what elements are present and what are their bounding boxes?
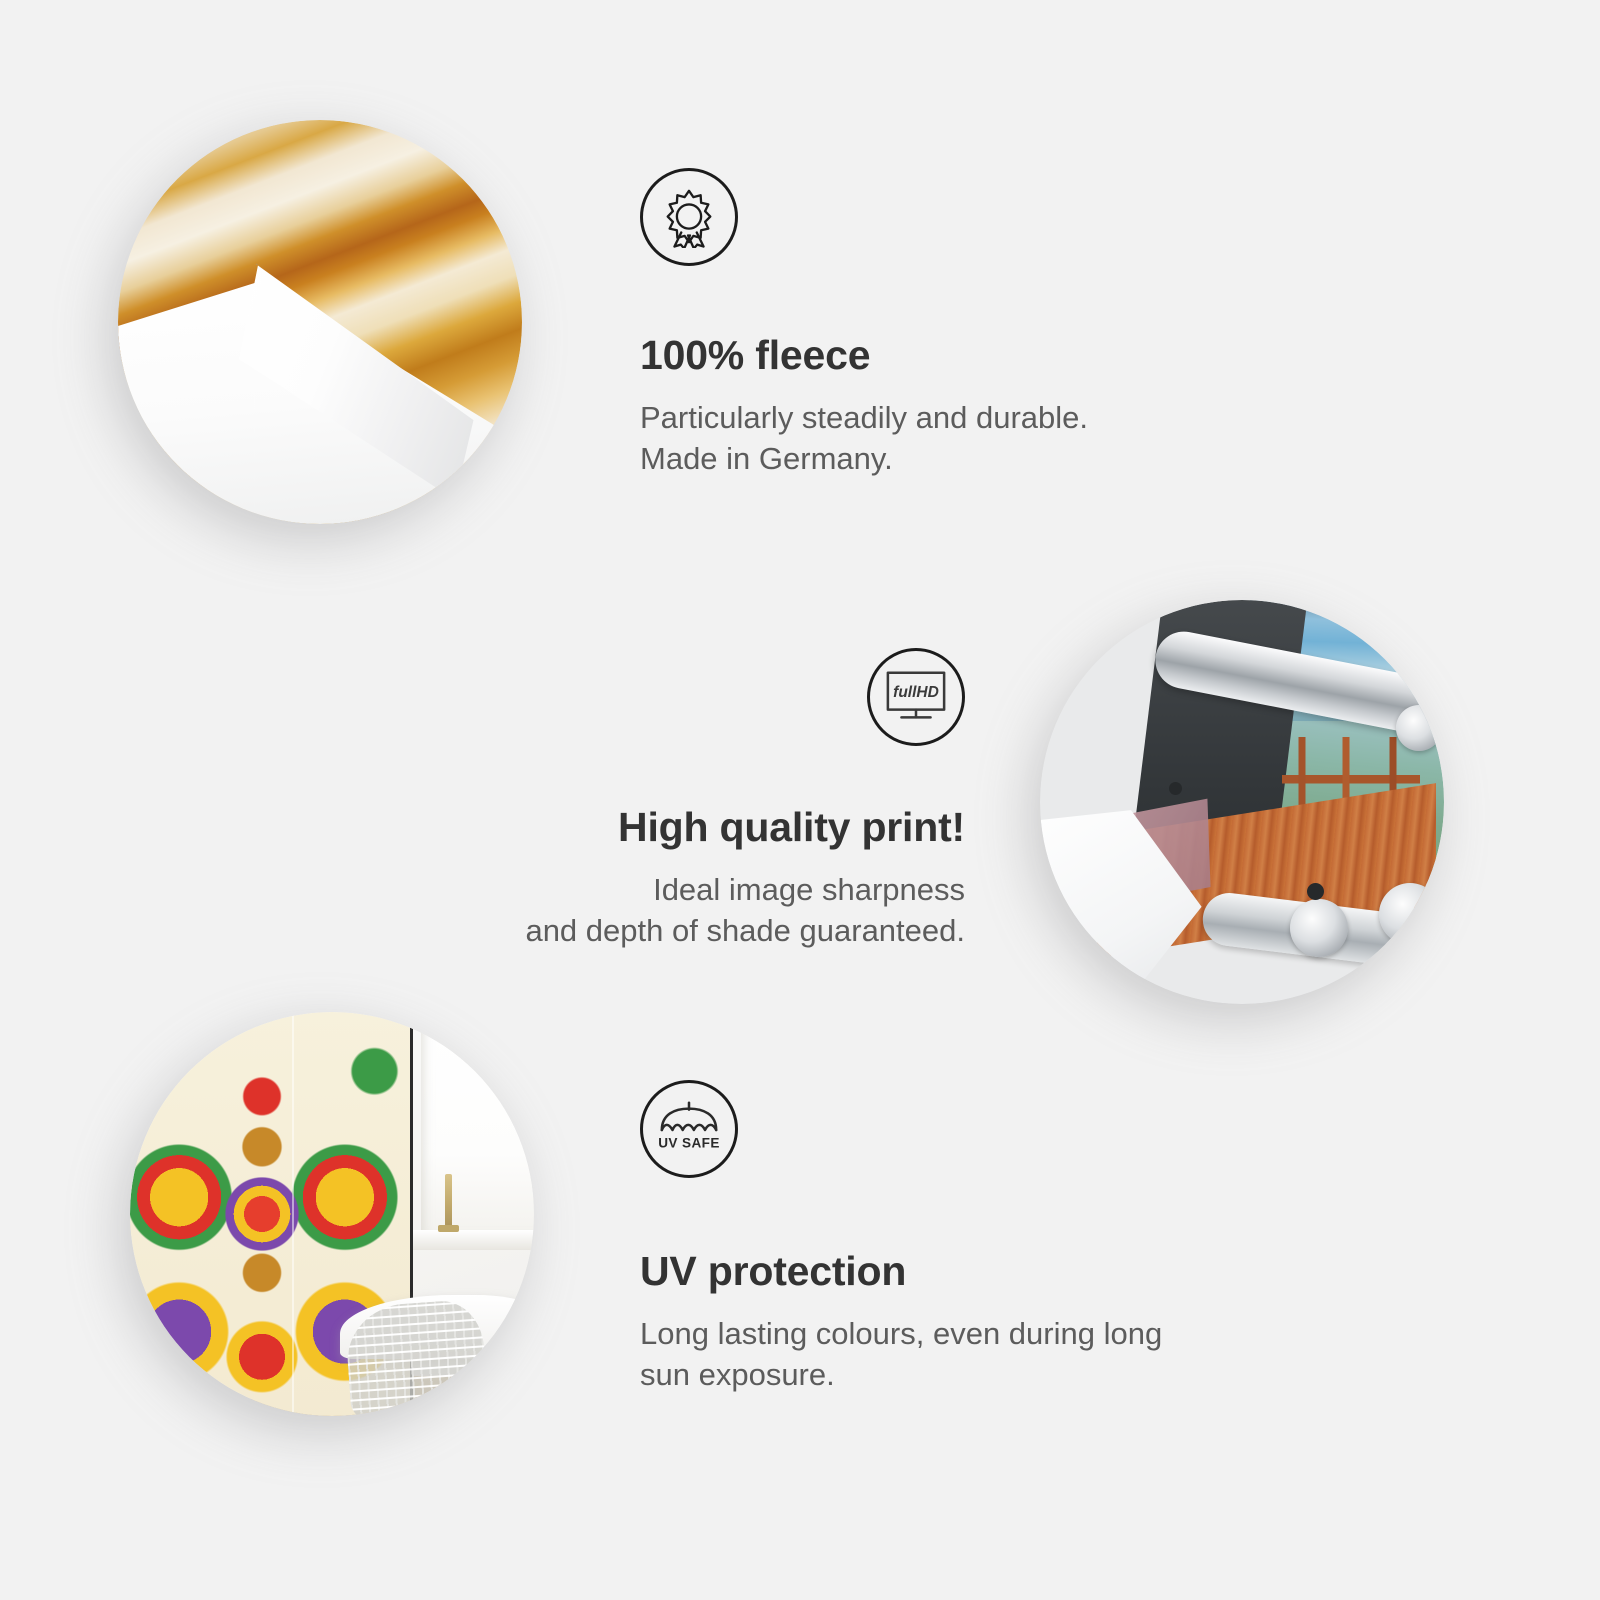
candle-holder [445,1174,452,1232]
feature-title: UV protection [640,1248,1162,1295]
printer-knob [1169,782,1182,795]
window-sill [413,1230,534,1250]
uv-safe-umbrella-icon: UV SAFE [640,1080,738,1178]
award-ribbon-icon [640,168,738,266]
fullhd-icon-label: fullHD [893,684,939,701]
printer-wheel [1379,883,1441,945]
fullhd-monitor-icon: fullHD [867,648,965,746]
feature-fleece: 100% fleece Particularly steadily and du… [640,168,1088,479]
uv-safe-icon-label: UV SAFE [658,1135,720,1150]
feature-title: High quality print! [420,804,965,851]
feature-uv: UV SAFE UV protection Long lasting colou… [640,1080,1162,1395]
feature-description-line-2: sun exposure. [640,1354,1162,1395]
feature-description-line-1: Ideal image sharpness [420,869,965,910]
room-window [421,1028,534,1238]
feature-print: fullHD High quality print! Ideal image s… [420,648,965,951]
feature-description-line-1: Long lasting colours, even during long [640,1313,1162,1354]
printer-wheel [1396,705,1442,751]
feature-description-line-2: and depth of shade guaranteed. [420,910,965,951]
large-format-printer-photo [1040,600,1444,1004]
peeling-wallpaper-photo [118,120,522,524]
feature-title: 100% fleece [640,332,1088,379]
mural-seam [292,1012,294,1416]
printer-knob [1307,883,1324,900]
infographic-canvas: 100% fleece Particularly steadily and du… [0,0,1600,1600]
feature-description-line-2: Made in Germany. [640,438,1088,479]
feature-description-line-1: Particularly steadily and durable. [640,397,1088,438]
mandala-mural-room-photo [130,1012,534,1416]
